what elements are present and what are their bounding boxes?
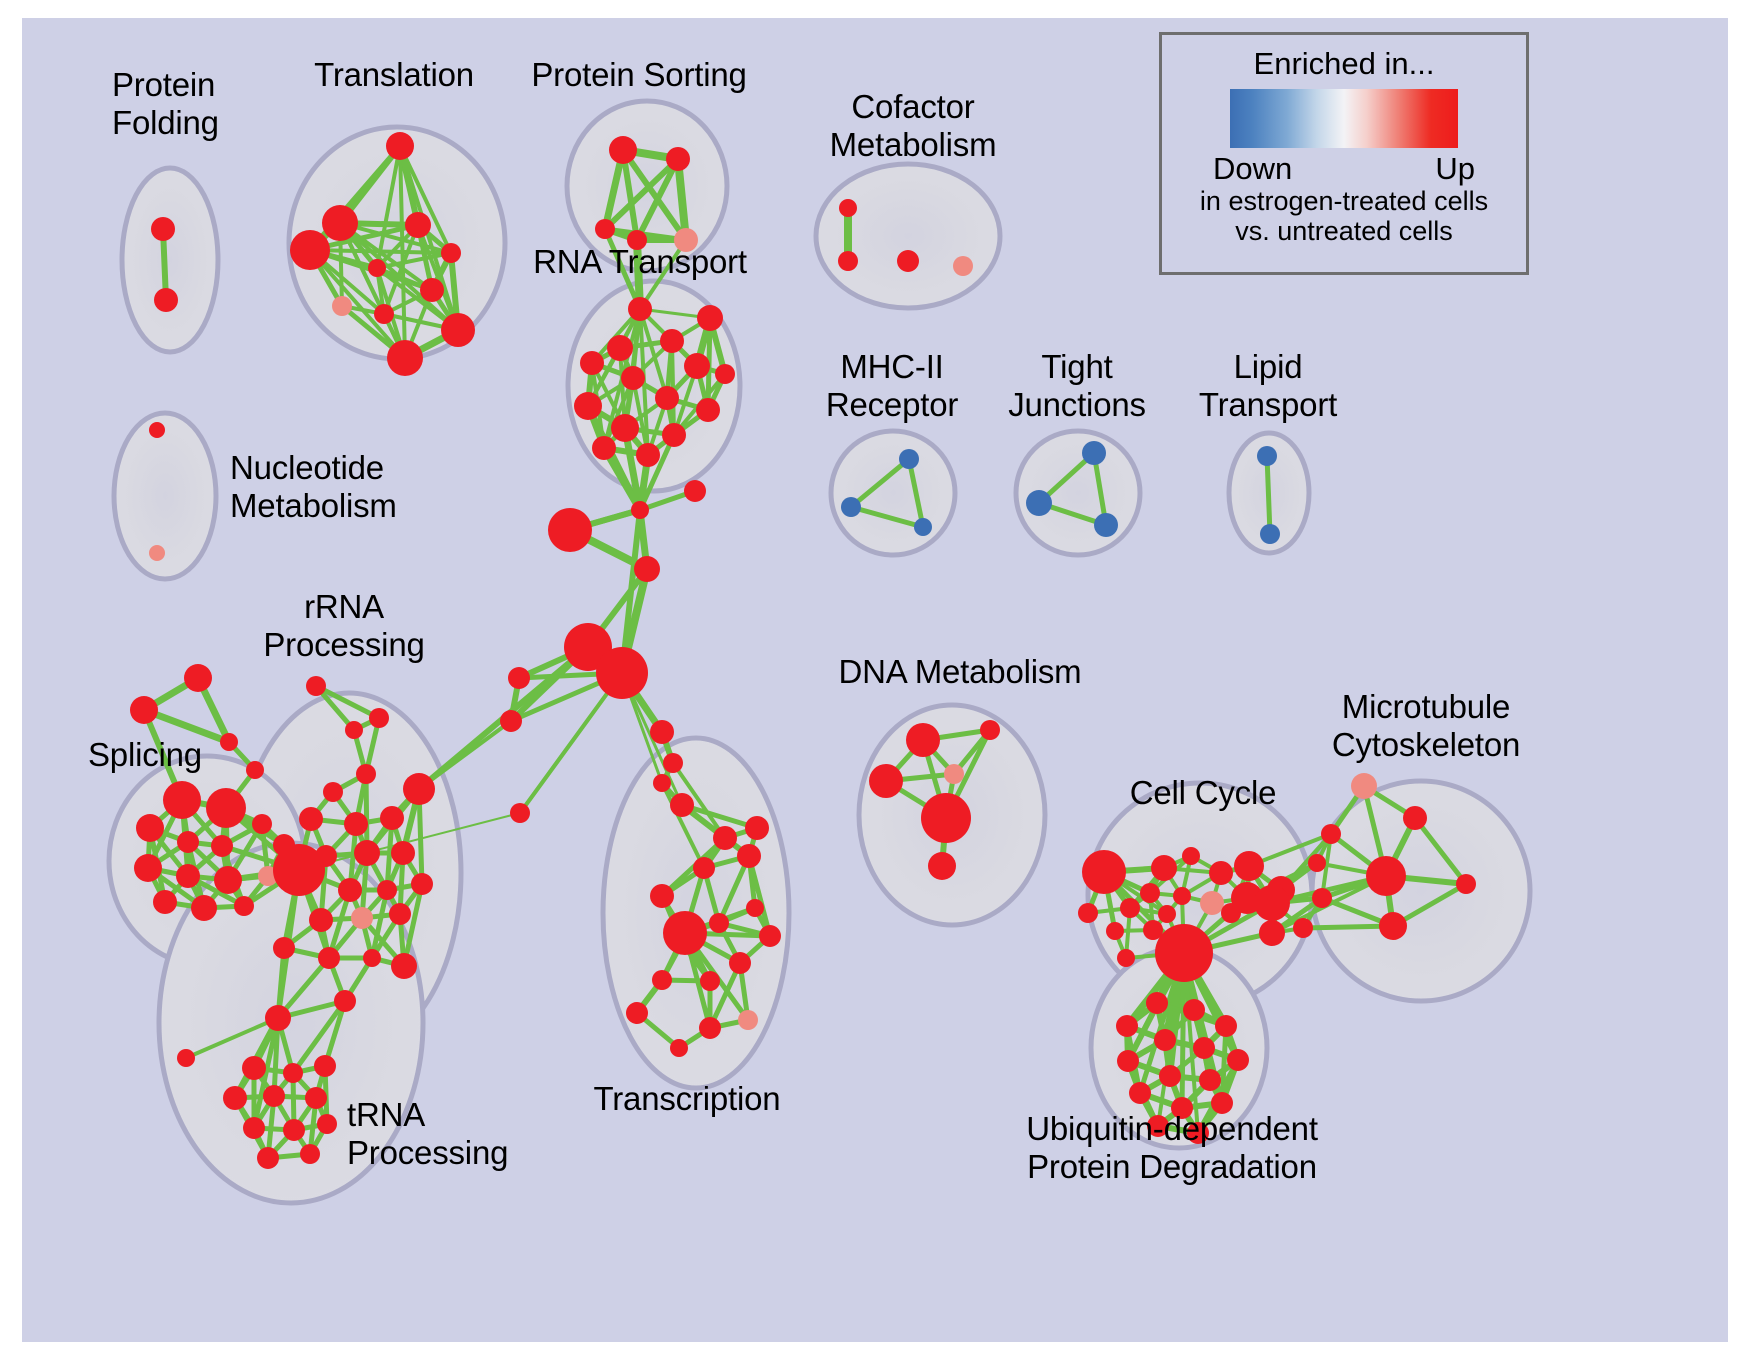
network-node[interactable] [1308, 854, 1326, 872]
network-node[interactable] [441, 313, 475, 347]
network-node[interactable] [663, 753, 683, 773]
network-node[interactable] [1173, 887, 1191, 905]
network-node[interactable] [1259, 920, 1285, 946]
network-node[interactable] [684, 353, 710, 379]
cluster-label-tight-junctions: Tight Junctions [1008, 348, 1146, 423]
network-node[interactable] [386, 132, 414, 160]
network-node[interactable] [322, 205, 358, 241]
network-node[interactable] [1151, 855, 1177, 881]
network-node[interactable] [1254, 885, 1290, 921]
network-node[interactable] [628, 297, 652, 321]
cluster-label-mhc-ii-receptor: MHC-II Receptor [826, 348, 958, 423]
network-node[interactable] [305, 1087, 327, 1109]
cluster-hull-nucleotide-metabolism[interactable] [114, 413, 216, 579]
network-node[interactable] [655, 386, 679, 410]
network-node[interactable] [1082, 850, 1126, 894]
network-node[interactable] [306, 676, 326, 696]
network-node[interactable] [650, 720, 674, 744]
network-node[interactable] [650, 884, 674, 908]
network-node[interactable] [403, 773, 435, 805]
network-node[interactable] [387, 340, 423, 376]
network-node[interactable] [214, 866, 242, 894]
network-node[interactable] [136, 814, 164, 842]
network-node[interactable] [921, 793, 971, 843]
network-node[interactable] [548, 508, 592, 552]
network-node[interactable] [636, 443, 660, 467]
legend-caption-line1: in estrogen-treated cells [1200, 186, 1488, 216]
legend-caption-line2: vs. untreated cells [1235, 216, 1453, 246]
cluster-label-dna-metabolism: DNA Metabolism [839, 653, 1082, 691]
network-node[interactable] [1293, 918, 1313, 938]
network-node[interactable] [334, 990, 356, 1012]
network-node[interactable] [283, 1063, 303, 1083]
network-node[interactable] [263, 1085, 285, 1107]
network-node[interactable] [713, 826, 737, 850]
network-node[interactable] [928, 852, 956, 880]
network-node[interactable] [177, 1049, 195, 1067]
network-node[interactable] [283, 1119, 305, 1141]
network-node[interactable] [1234, 851, 1264, 881]
cluster-hull-cofactor-metabolism[interactable] [816, 164, 1000, 308]
network-node[interactable] [729, 952, 751, 974]
network-node[interactable] [257, 1147, 279, 1169]
network-node[interactable] [663, 911, 707, 955]
network-node[interactable] [897, 250, 919, 272]
cluster-label-rna-transport: RNA Transport [533, 243, 747, 281]
network-node[interactable] [1379, 912, 1407, 940]
cluster-label-cofactor-metabolism: Cofactor Metabolism [830, 88, 997, 163]
network-node[interactable] [574, 392, 602, 420]
network-node[interactable] [580, 351, 604, 375]
network-node[interactable] [344, 812, 368, 836]
network-node[interactable] [906, 723, 940, 757]
network-node[interactable] [670, 1039, 688, 1057]
network-node[interactable] [1159, 1065, 1181, 1087]
network-node[interactable] [345, 721, 363, 739]
cluster-hull-mhc-ii-receptor[interactable] [831, 431, 955, 555]
network-node[interactable] [309, 908, 333, 932]
legend-title: Enriched in... [1254, 47, 1435, 81]
figure-canvas: Protein FoldingTranslationProtein Sortin… [0, 0, 1750, 1360]
network-node[interactable] [184, 664, 212, 692]
network-node[interactable] [154, 288, 178, 312]
network-node[interactable] [1154, 1029, 1176, 1051]
network-node[interactable] [980, 720, 1000, 740]
network-node[interactable] [405, 212, 431, 238]
network-node[interactable] [369, 708, 389, 728]
network-node[interactable] [1199, 1069, 1221, 1091]
network-node[interactable] [696, 398, 720, 422]
cluster-label-protein-sorting: Protein Sorting [531, 56, 746, 94]
network-node[interactable] [1158, 905, 1176, 923]
network-node[interactable] [1183, 999, 1205, 1021]
network-node[interactable] [1403, 806, 1427, 830]
legend: Enriched in... Down Up in estrogen-treat… [1159, 32, 1529, 275]
cluster-label-splicing: Splicing [88, 736, 202, 774]
cluster-label-lipid-transport: Lipid Transport [1199, 348, 1337, 423]
network-node[interactable] [220, 733, 238, 751]
cluster-hull-protein-folding[interactable] [122, 168, 218, 352]
network-node[interactable] [693, 857, 715, 879]
network-node[interactable] [211, 835, 233, 857]
network-node[interactable] [149, 545, 165, 561]
network-node[interactable] [634, 556, 660, 582]
network-node[interactable] [1351, 773, 1377, 799]
network-node[interactable] [252, 814, 272, 834]
network-node[interactable] [745, 816, 769, 840]
network-node[interactable] [149, 422, 165, 438]
legend-endpoints: Down Up [1213, 152, 1475, 186]
network-node[interactable] [699, 1017, 721, 1039]
network-node[interactable] [841, 497, 861, 517]
network-node[interactable] [1321, 824, 1341, 844]
network-node[interactable] [1209, 861, 1233, 885]
network-node[interactable] [609, 136, 637, 164]
network-node[interactable] [177, 831, 199, 853]
network-node[interactable] [662, 423, 686, 447]
network-node[interactable] [715, 364, 735, 384]
network-node[interactable] [510, 803, 530, 823]
network-node[interactable] [1227, 1049, 1249, 1071]
network-node[interactable] [839, 199, 857, 217]
network-node[interactable] [391, 841, 415, 865]
network-node[interactable] [1215, 1015, 1237, 1037]
network-node[interactable] [1106, 922, 1124, 940]
network-node[interactable] [191, 895, 217, 921]
network-node[interactable] [697, 305, 723, 331]
network-node[interactable] [1312, 888, 1332, 908]
network-node[interactable] [1094, 513, 1118, 537]
network-node[interactable] [611, 414, 639, 442]
network-node[interactable] [1366, 856, 1406, 896]
network-node[interactable] [314, 1055, 336, 1077]
network-node[interactable] [332, 296, 352, 316]
network-node[interactable] [746, 899, 764, 917]
network-node[interactable] [1129, 1082, 1151, 1104]
network-node[interactable] [368, 259, 386, 277]
network-node[interactable] [363, 949, 381, 967]
network-node[interactable] [317, 1114, 337, 1134]
network-node[interactable] [299, 807, 323, 831]
network-node[interactable] [420, 278, 444, 302]
legend-low-label: Down [1213, 152, 1292, 186]
network-node[interactable] [391, 953, 417, 979]
network-node[interactable] [1117, 1050, 1139, 1072]
network-node[interactable] [318, 947, 340, 969]
network-node[interactable] [242, 1056, 266, 1080]
network-node[interactable] [737, 844, 761, 868]
network-node[interactable] [323, 782, 343, 802]
cluster-label-trna-processing: tRNA Processing [347, 1096, 508, 1171]
network-node[interactable] [153, 890, 177, 914]
network-node[interactable] [389, 903, 411, 925]
cluster-label-translation: Translation [314, 56, 474, 94]
network-node[interactable] [234, 896, 254, 916]
network-node[interactable] [595, 219, 615, 239]
network-node[interactable] [607, 335, 633, 361]
edge[interactable] [1267, 456, 1270, 534]
network-node[interactable] [626, 1002, 648, 1024]
network-node[interactable] [508, 667, 530, 689]
legend-high-label: Up [1435, 152, 1475, 186]
cluster-label-microtubule: Microtubule Cytoskeleton [1332, 688, 1520, 763]
cluster-label-ubiquitin-degradation: Ubiquitin-dependent Protein Degradation [1026, 1110, 1318, 1185]
network-node[interactable] [621, 366, 645, 390]
network-node[interactable] [1116, 1015, 1138, 1037]
network-node[interactable] [1155, 924, 1213, 982]
network-node[interactable] [1117, 949, 1135, 967]
network-node[interactable] [1257, 446, 1277, 466]
network-node[interactable] [380, 806, 404, 830]
network-node[interactable] [592, 436, 616, 460]
network-node[interactable] [1078, 903, 1098, 923]
network-node[interactable] [1146, 992, 1168, 1014]
network-node[interactable] [1120, 898, 1140, 918]
cluster-label-nucleotide-metabolism: Nucleotide Metabolism [230, 449, 397, 524]
network-node[interactable] [130, 696, 158, 724]
network-node[interactable] [1260, 524, 1280, 544]
network-node[interactable] [1200, 891, 1224, 915]
network-node[interactable] [914, 518, 932, 536]
network-node[interactable] [356, 764, 376, 784]
network-node[interactable] [1193, 1037, 1215, 1059]
network-node[interactable] [944, 764, 964, 784]
network-node[interactable] [684, 480, 706, 502]
network-node[interactable] [300, 1144, 320, 1164]
network-node[interactable] [354, 840, 380, 866]
network-node[interactable] [411, 873, 433, 895]
network-node[interactable] [838, 251, 858, 271]
network-node[interactable] [163, 781, 201, 819]
network-node[interactable] [709, 913, 729, 933]
network-node[interactable] [273, 937, 295, 959]
network-node[interactable] [1026, 490, 1052, 516]
network-node[interactable] [700, 971, 720, 991]
network-node[interactable] [134, 854, 162, 882]
network-node[interactable] [441, 243, 461, 263]
network-node[interactable] [666, 147, 690, 171]
network-node[interactable] [1140, 883, 1160, 903]
network-node[interactable] [290, 230, 330, 270]
network-node[interactable] [869, 764, 903, 798]
enrichment-map-plot: Protein FoldingTranslationProtein Sortin… [22, 18, 1728, 1342]
network-node[interactable] [660, 329, 684, 353]
network-node[interactable] [273, 844, 325, 896]
network-node[interactable] [596, 647, 648, 699]
network-node[interactable] [265, 1005, 291, 1031]
cluster-label-protein-folding: Protein Folding [112, 66, 219, 141]
network-node[interactable] [631, 501, 649, 519]
network-node[interactable] [953, 256, 973, 276]
network-node[interactable] [1221, 903, 1241, 923]
network-node[interactable] [374, 304, 394, 324]
network-node[interactable] [652, 970, 672, 990]
network-node[interactable] [206, 788, 246, 828]
legend-color-ramp [1230, 89, 1458, 148]
network-node[interactable] [351, 907, 373, 929]
network-node[interactable] [500, 710, 522, 732]
cluster-label-rrna-processing: rRNA Processing [263, 588, 424, 663]
network-node[interactable] [338, 878, 362, 902]
network-node[interactable] [377, 880, 397, 900]
network-node[interactable] [759, 925, 781, 947]
network-node[interactable] [246, 761, 264, 779]
network-node[interactable] [223, 1086, 247, 1110]
network-node[interactable] [670, 793, 694, 817]
network-node[interactable] [1082, 441, 1106, 465]
network-node[interactable] [1456, 874, 1476, 894]
network-node[interactable] [151, 217, 175, 241]
network-node[interactable] [899, 449, 919, 469]
network-node[interactable] [176, 864, 200, 888]
cluster-label-transcription: Transcription [594, 1080, 781, 1118]
network-node[interactable] [738, 1010, 758, 1030]
network-node[interactable] [653, 774, 671, 792]
network-node[interactable] [1182, 847, 1200, 865]
cluster-label-cell-cycle: Cell Cycle [1130, 774, 1277, 812]
network-node[interactable] [243, 1117, 265, 1139]
